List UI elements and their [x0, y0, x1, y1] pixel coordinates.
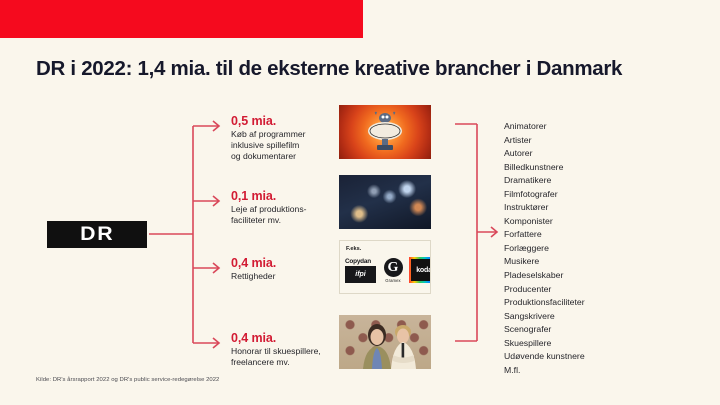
- profession-list: Animatorer Artister Autorer Billedkunstn…: [504, 120, 585, 377]
- branch-item: 0,4 mia. Honorar til skuespillere, freel…: [231, 331, 321, 368]
- branch-amount: 0,4 mia.: [231, 331, 321, 345]
- branch-item: 0,4 mia. Rettigheder: [231, 256, 276, 282]
- list-item: Komponister: [504, 215, 585, 229]
- page-title: DR i 2022: 1,4 mia. til de eksterne krea…: [36, 57, 622, 81]
- rights-organisations-thumbnail: F.eks. Copydan ifpi G Gramex koda: [339, 240, 431, 294]
- rights-logos-row: Copydan ifpi G Gramex koda: [345, 257, 431, 283]
- infographic-page: { "brand": { "accent_red": "#f50a1e", "v…: [0, 0, 720, 405]
- list-item: Producenter: [504, 283, 585, 297]
- branch-description: Rettigheder: [231, 271, 276, 282]
- list-item: Forlæggere: [504, 242, 585, 256]
- list-item: Forfattere: [504, 228, 585, 242]
- list-item: Dramatikere: [504, 174, 585, 188]
- branch-amount: 0,5 mia.: [231, 114, 306, 128]
- branch-description: Leje af produktions- faciliteter mv.: [231, 204, 306, 226]
- list-item: Autorer: [504, 147, 585, 161]
- koda-wordmark: koda: [411, 259, 431, 281]
- branch-amount: 0,4 mia.: [231, 256, 276, 270]
- cartoon-character-icon: [360, 111, 410, 153]
- list-item: Billedkunstnere: [504, 161, 585, 175]
- gramex-mark: G: [384, 258, 403, 277]
- dr-logo-label: DR: [80, 224, 114, 246]
- list-item: Skuespillere: [504, 337, 585, 351]
- copydan-logo: Copydan ifpi: [345, 258, 377, 283]
- koda-logo: koda: [409, 257, 431, 283]
- two-actors-illustration: [339, 315, 431, 369]
- list-item: Sangskrivere: [504, 310, 585, 324]
- gramex-logo: G Gramex: [381, 258, 405, 283]
- list-item: Produktionsfaciliteter: [504, 296, 585, 310]
- list-item: Artister: [504, 134, 585, 148]
- ifpi-mark: ifpi: [345, 266, 376, 283]
- source-note: Kilde: DR's årsrapport 2022 og DR's publ…: [36, 377, 219, 383]
- gramex-wordmark: Gramex: [381, 278, 405, 283]
- example-label: F.eks.: [346, 246, 361, 252]
- list-item: Musikere: [504, 255, 585, 269]
- list-item: Udøvende kunstnere: [504, 350, 585, 364]
- list-item: Instruktører: [504, 201, 585, 215]
- branch-item: 0,1 mia. Leje af produktions- facilitete…: [231, 189, 306, 226]
- branch-item: 0,5 mia. Køb af programmer inklusive spi…: [231, 114, 306, 163]
- branch-description: Honorar til skuespillere, freelancere mv…: [231, 346, 321, 368]
- list-item: Pladeselskaber: [504, 269, 585, 283]
- red-banner-decoration: [0, 0, 363, 38]
- list-item: Filmfotografer: [504, 188, 585, 202]
- copydan-wordmark: Copydan: [345, 258, 377, 265]
- cartoon-show-thumbnail: [339, 105, 431, 159]
- night-production-thumbnail: [339, 175, 431, 229]
- list-item: M.fl.: [504, 364, 585, 378]
- branch-description: Køb af programmer inklusive spillefilm o…: [231, 129, 306, 163]
- list-item: Scenografer: [504, 323, 585, 337]
- branch-amount: 0,1 mia.: [231, 189, 306, 203]
- dr-logo: DR: [47, 221, 147, 248]
- list-item: Animatorer: [504, 120, 585, 134]
- actors-drama-thumbnail: [339, 315, 431, 369]
